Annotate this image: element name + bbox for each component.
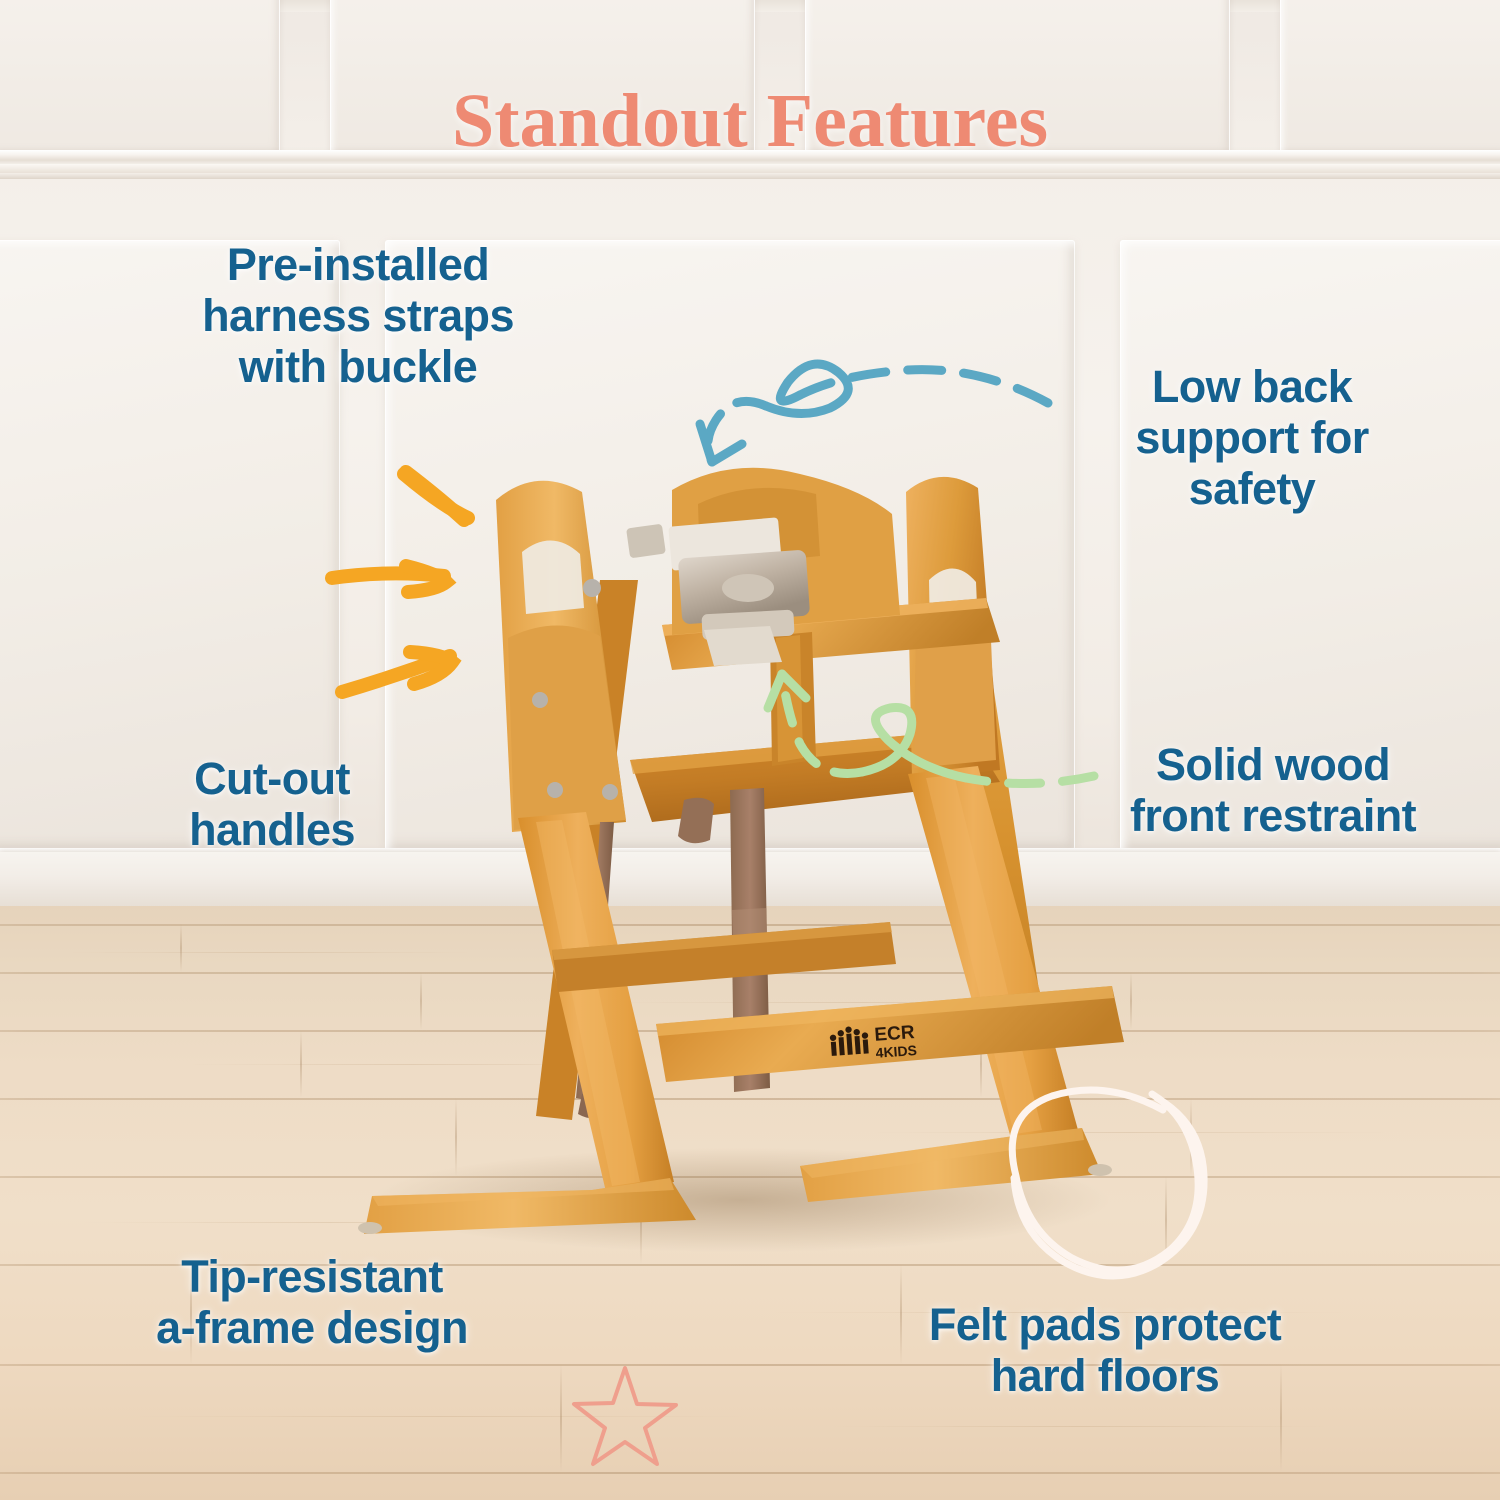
callout-front-restraint: Solid wood front restraint bbox=[1078, 740, 1468, 842]
chair-rail-molding-mid bbox=[0, 164, 1500, 173]
brand-mark-4kids: 4KIDS bbox=[875, 1042, 917, 1061]
high-chair-product-image: ECR 4KIDS bbox=[300, 430, 1160, 1260]
page-title: Standout Features bbox=[0, 78, 1500, 165]
callout-cutout-handles: Cut-out handles bbox=[122, 754, 422, 856]
infographic-canvas: ECR 4KIDS Standout Features Pre-installe… bbox=[0, 0, 1500, 1500]
callout-felt-pads: Felt pads protect hard floors bbox=[850, 1300, 1360, 1402]
felt-pad-right bbox=[1088, 1164, 1112, 1176]
callout-low-back-support: Low back support for safety bbox=[1052, 362, 1452, 515]
felt-pad-left bbox=[358, 1222, 382, 1234]
chair-left-cutout-handle bbox=[522, 540, 584, 614]
callout-a-frame-design: Tip-resistant a-frame design bbox=[92, 1252, 532, 1354]
harness-strap-tab bbox=[678, 798, 714, 843]
callout-harness-straps: Pre-installed harness straps with buckle bbox=[148, 240, 568, 393]
chair-rail-molding-bottom bbox=[0, 173, 1500, 179]
